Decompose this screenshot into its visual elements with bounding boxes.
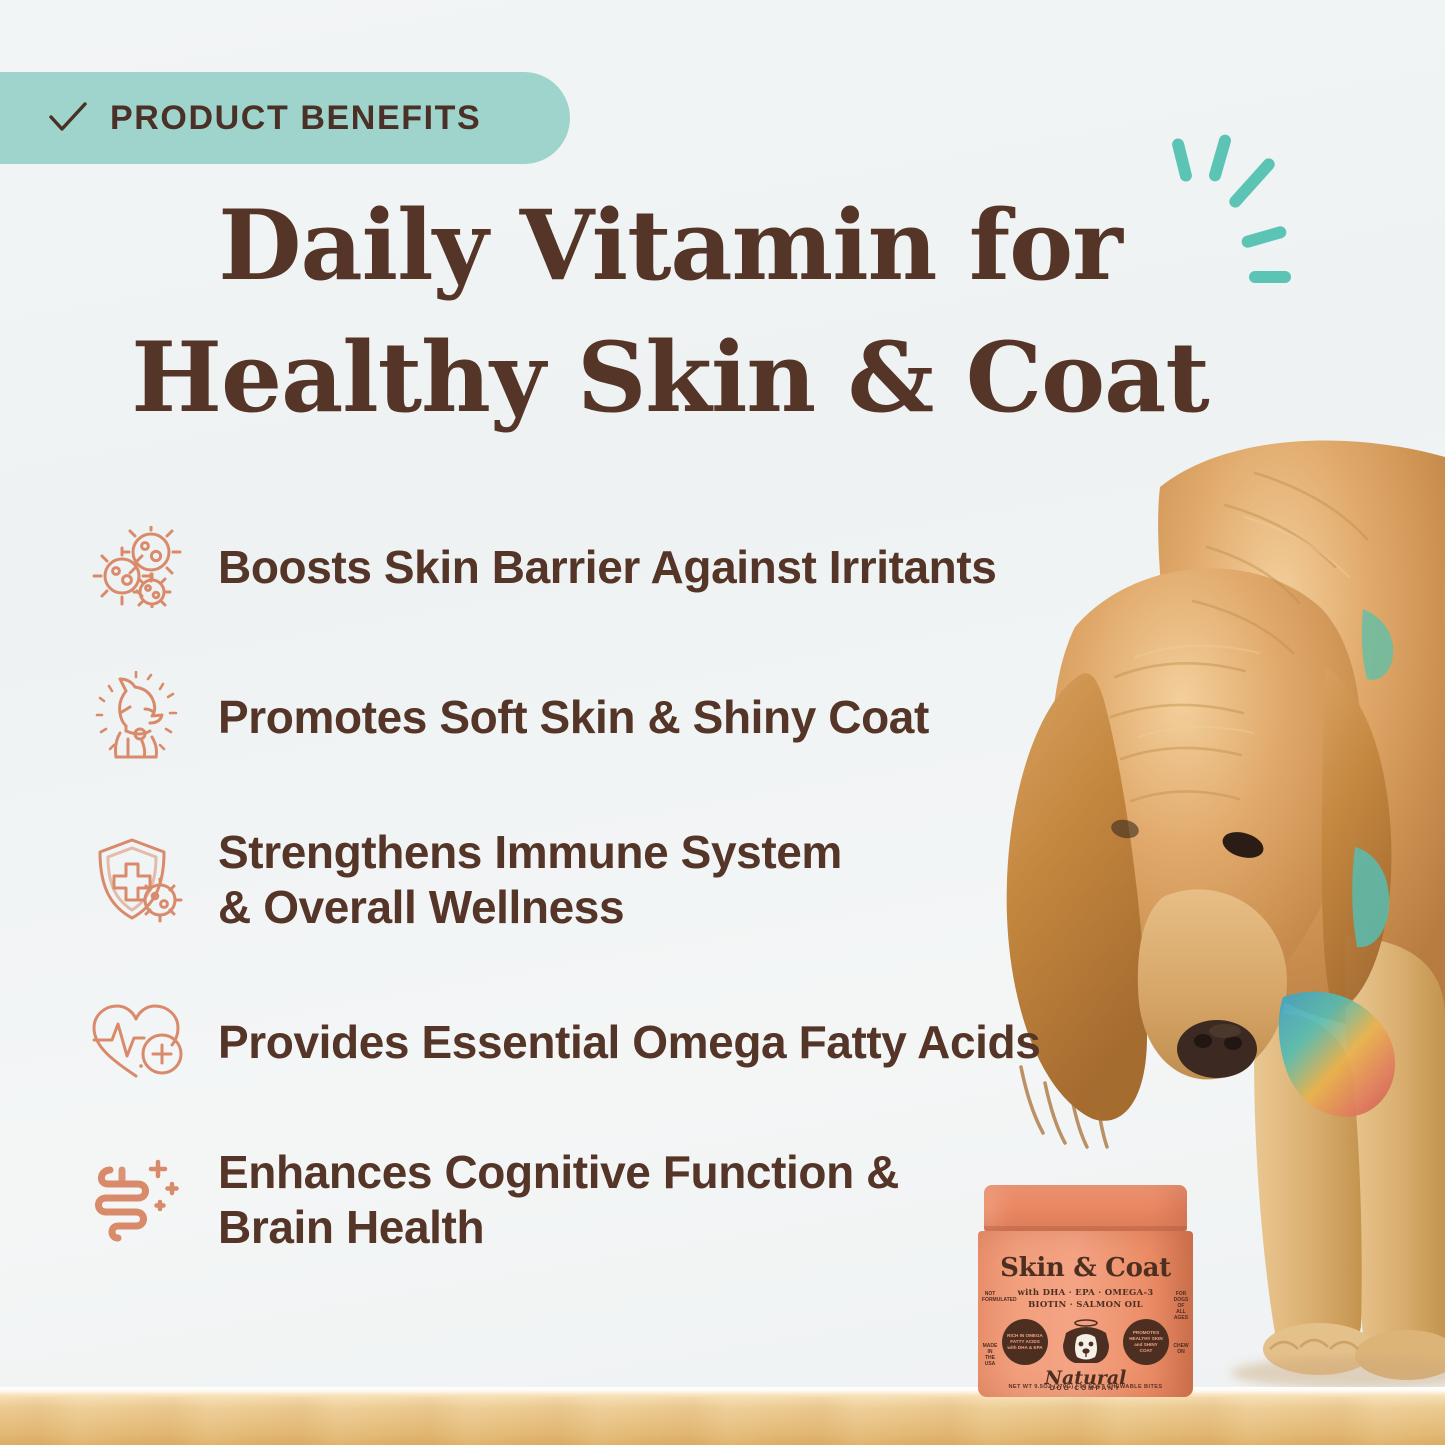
jar-side-badge-left-top: NOT FORMULATED: [982, 1291, 998, 1303]
intestine-sparkle-icon: [78, 1154, 194, 1246]
benefit-item: Strengthens Immune System & Overall Well…: [78, 792, 1138, 967]
headline-line-2: Healthy Skin & Coat: [0, 312, 1340, 444]
wooden-floor: [0, 1387, 1445, 1445]
seal-left-text: RICH IN OMEGA FATTY ACIDS with DHA & EPA: [1002, 1319, 1048, 1365]
benefit-item: Enhances Cognitive Function & Brain Heal…: [78, 1117, 1138, 1282]
jar-side-badge-left-bottom: MADE IN THE USA: [982, 1343, 998, 1367]
benefit-item: Boosts Skin Barrier Against Irritants: [78, 492, 1138, 642]
jar-side-badge-right-top: FOR DOGS OF ALL AGES: [1173, 1291, 1189, 1321]
headline-line-1: Daily Vitamin for: [218, 189, 1122, 302]
badge-label: PRODUCT BENEFITS: [110, 99, 481, 138]
product-benefits-badge: PRODUCT BENEFITS: [0, 72, 570, 164]
benefit-label-line: Enhances Cognitive Function & Brain Heal…: [218, 1146, 899, 1252]
seal-badge-left: RICH IN OMEGA FATTY ACIDS with DHA & EPA: [1002, 1319, 1048, 1365]
jar-side-badge-right-bottom: CHEW ON: [1173, 1343, 1189, 1355]
benefit-label: Provides Essential Omega Fatty Acids: [218, 1015, 1040, 1069]
infographic-canvas: PRODUCT BENEFITS Daily Vitamin for Healt…: [0, 0, 1445, 1445]
net-weight-text: NET WT 9.5OZ (270G) | 90 SOFT CHEWABLE B…: [978, 1384, 1193, 1390]
heart-pulse-plus-icon: [78, 1000, 194, 1084]
benefit-label: Strengthens Immune System & Overall Well…: [218, 825, 842, 934]
seal-badge-right: PROMOTES HEALTHY SKIN and SHINY COAT: [1123, 1319, 1169, 1365]
benefit-label: Promotes Soft Skin & Shiny Coat: [218, 690, 929, 744]
shield-cross-virus-icon: [78, 834, 194, 926]
check-icon: [48, 101, 88, 135]
benefit-label: Boosts Skin Barrier Against Irritants: [218, 540, 996, 594]
benefit-label-line: Strengthens Immune System & Overall Well…: [218, 826, 842, 932]
benefit-label: Enhances Cognitive Function & Brain Heal…: [218, 1145, 899, 1254]
page-title: Daily Vitamin for Healthy Skin & Coat: [0, 180, 1340, 445]
bacteria-icon: [78, 526, 194, 608]
brand-dog-logo-icon: [1057, 1317, 1115, 1369]
benefits-list: Boosts Skin Barrier Against Irritants: [78, 492, 1138, 1282]
floor-grain: [0, 1397, 1445, 1445]
sparkle-burst-icon: [1172, 132, 1322, 282]
dog-sparkle-icon: [78, 671, 194, 763]
benefit-item: Promotes Soft Skin & Shiny Coat: [78, 642, 1138, 792]
benefit-item: Provides Essential Omega Fatty Acids: [78, 967, 1138, 1117]
seal-right-text: PROMOTES HEALTHY SKIN and SHINY COAT: [1123, 1319, 1169, 1365]
